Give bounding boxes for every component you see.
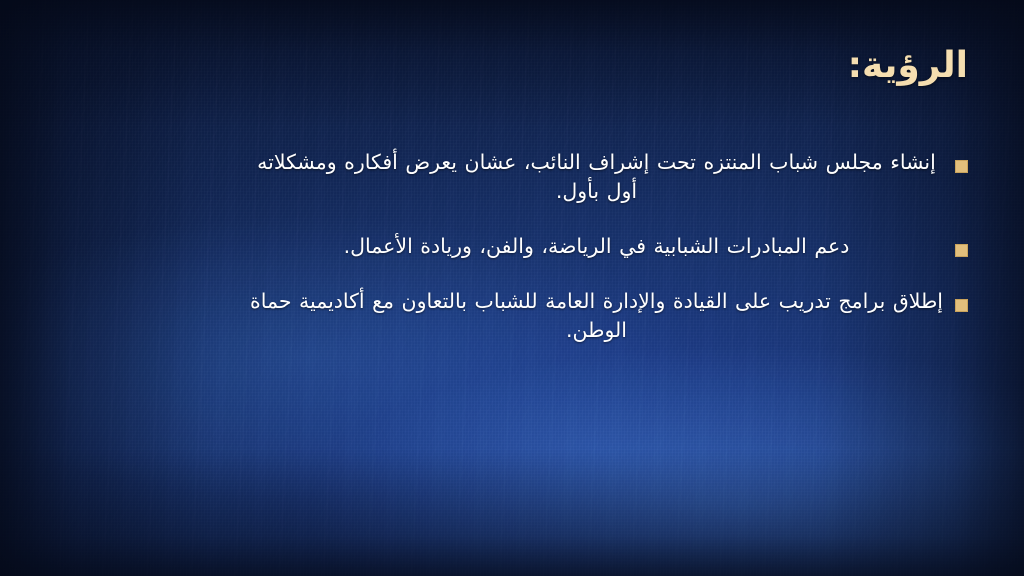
slide-content: الرؤية: إنشاء مجلس شباب المنتزه تحت إشرا… [0, 0, 1024, 576]
gold-square-marker-icon [955, 299, 968, 312]
bullet-list: إنشاء مجلس شباب المنتزه تحت إشراف النائب… [250, 148, 968, 372]
gold-square-marker-icon [955, 244, 968, 257]
bullet-text: إطلاق برامج تدريب على القيادة والإدارة ا… [250, 287, 943, 345]
slide-title: الرؤية: [848, 44, 968, 87]
bullet-text: إنشاء مجلس شباب المنتزه تحت إشراف النائب… [250, 148, 943, 206]
presentation-slide: الرؤية: إنشاء مجلس شباب المنتزه تحت إشرا… [0, 0, 1024, 576]
bullet-item: إطلاق برامج تدريب على القيادة والإدارة ا… [250, 287, 968, 345]
bullet-item: دعم المبادرات الشبابية في الرياضة، والفن… [250, 232, 968, 261]
bullet-item: إنشاء مجلس شباب المنتزه تحت إشراف النائب… [250, 148, 968, 206]
bullet-text: دعم المبادرات الشبابية في الرياضة، والفن… [250, 232, 943, 261]
gold-square-marker-icon [955, 160, 968, 173]
